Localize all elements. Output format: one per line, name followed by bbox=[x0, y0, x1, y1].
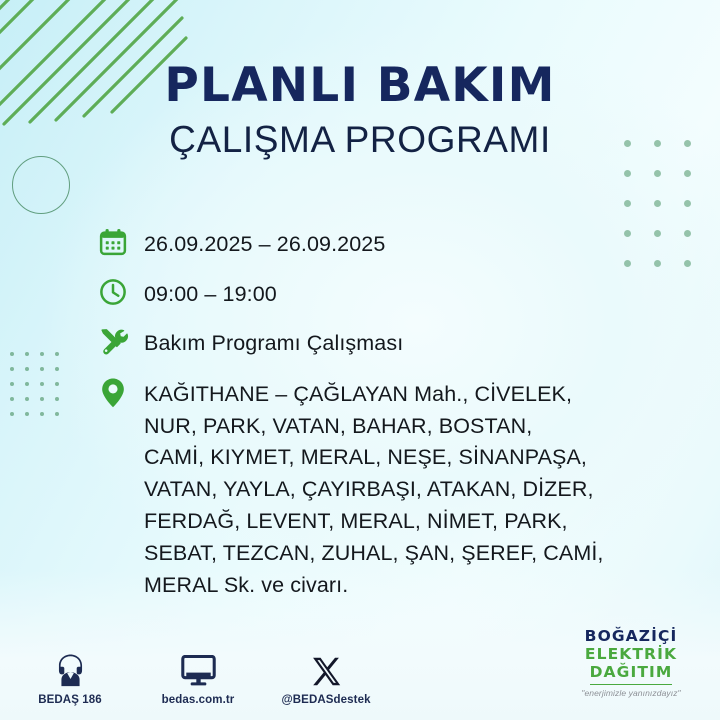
footer: BEDAŞ 186 bedas.com.tr @BEDASdestek bbox=[28, 653, 368, 706]
work-type-text: Bakım Programı Çalışması bbox=[144, 325, 403, 358]
page-subtitle: ÇALIŞMA PROGRAMI bbox=[0, 121, 720, 158]
footer-label: @BEDASdestek bbox=[281, 694, 370, 706]
footer-label: BEDAŞ 186 bbox=[38, 694, 102, 706]
clock-icon bbox=[98, 276, 144, 307]
logo-line-dagitim: DAĞITIM bbox=[590, 664, 673, 685]
address-line: VATAN, YAYLA, ÇAYIRBAŞI, ATAKAN, DİZER, bbox=[144, 474, 603, 506]
info-row-time: 09:00 – 19:00 bbox=[98, 276, 630, 309]
footer-label: bedas.com.tr bbox=[162, 694, 235, 706]
bedas-logo: BOĞAZİÇİ ELEKTRİK DAĞITIM "enerjimizle y… bbox=[558, 628, 704, 698]
footer-item-x-social[interactable]: @BEDASdestek bbox=[284, 653, 368, 706]
address-line: SEBAT, TEZCAN, ZUHAL, ŞAN, ŞEREF, CAMİ, bbox=[144, 538, 603, 570]
info-row-address: KAĞITHANE – ÇAĞLAYAN Mah., CİVELEK, NUR,… bbox=[98, 375, 630, 602]
footer-item-website[interactable]: bedas.com.tr bbox=[156, 653, 240, 706]
time-range-text: 09:00 – 19:00 bbox=[144, 276, 277, 309]
address-line: KAĞITHANE – ÇAĞLAYAN Mah., CİVELEK, bbox=[144, 379, 603, 411]
logo-tagline: "enerjimizle yanınızdayız" bbox=[558, 688, 704, 698]
tools-icon bbox=[98, 325, 144, 357]
info-row-date: 26.09.2025 – 26.09.2025 bbox=[98, 226, 630, 259]
footer-item-call-center[interactable]: BEDAŞ 186 bbox=[28, 653, 112, 706]
header: PLANLI BAKIM ÇALIŞMA PROGRAMI bbox=[0, 62, 720, 158]
logo-line-bogazici: BOĞAZİÇİ bbox=[558, 628, 704, 646]
address-line: MERAL Sk. ve civarı. bbox=[144, 570, 603, 602]
calendar-icon bbox=[98, 226, 144, 257]
info-row-work-type: Bakım Programı Çalışması bbox=[98, 325, 630, 358]
date-range-text: 26.09.2025 – 26.09.2025 bbox=[144, 226, 385, 259]
address-line: CAMİ, KIYMET, MERAL, NEŞE, SİNANPAŞA, bbox=[144, 442, 603, 474]
monitor-website-icon bbox=[181, 653, 216, 687]
location-pin-icon bbox=[98, 375, 144, 409]
page-title: PLANLI BAKIM bbox=[0, 62, 720, 109]
address-line: FERDAĞ, LEVENT, MERAL, NİMET, PARK, bbox=[144, 506, 603, 538]
logo-line-elektrik: ELEKTRİK bbox=[558, 646, 704, 664]
x-twitter-icon bbox=[311, 653, 342, 687]
address-text: KAĞITHANE – ÇAĞLAYAN Mah., CİVELEK, NUR,… bbox=[144, 375, 603, 602]
info-list: 26.09.2025 – 26.09.2025 09:00 – 19:00 Ba… bbox=[98, 226, 630, 601]
headset-support-icon bbox=[54, 653, 87, 687]
address-line: NUR, PARK, VATAN, BAHAR, BOSTAN, bbox=[144, 411, 603, 443]
